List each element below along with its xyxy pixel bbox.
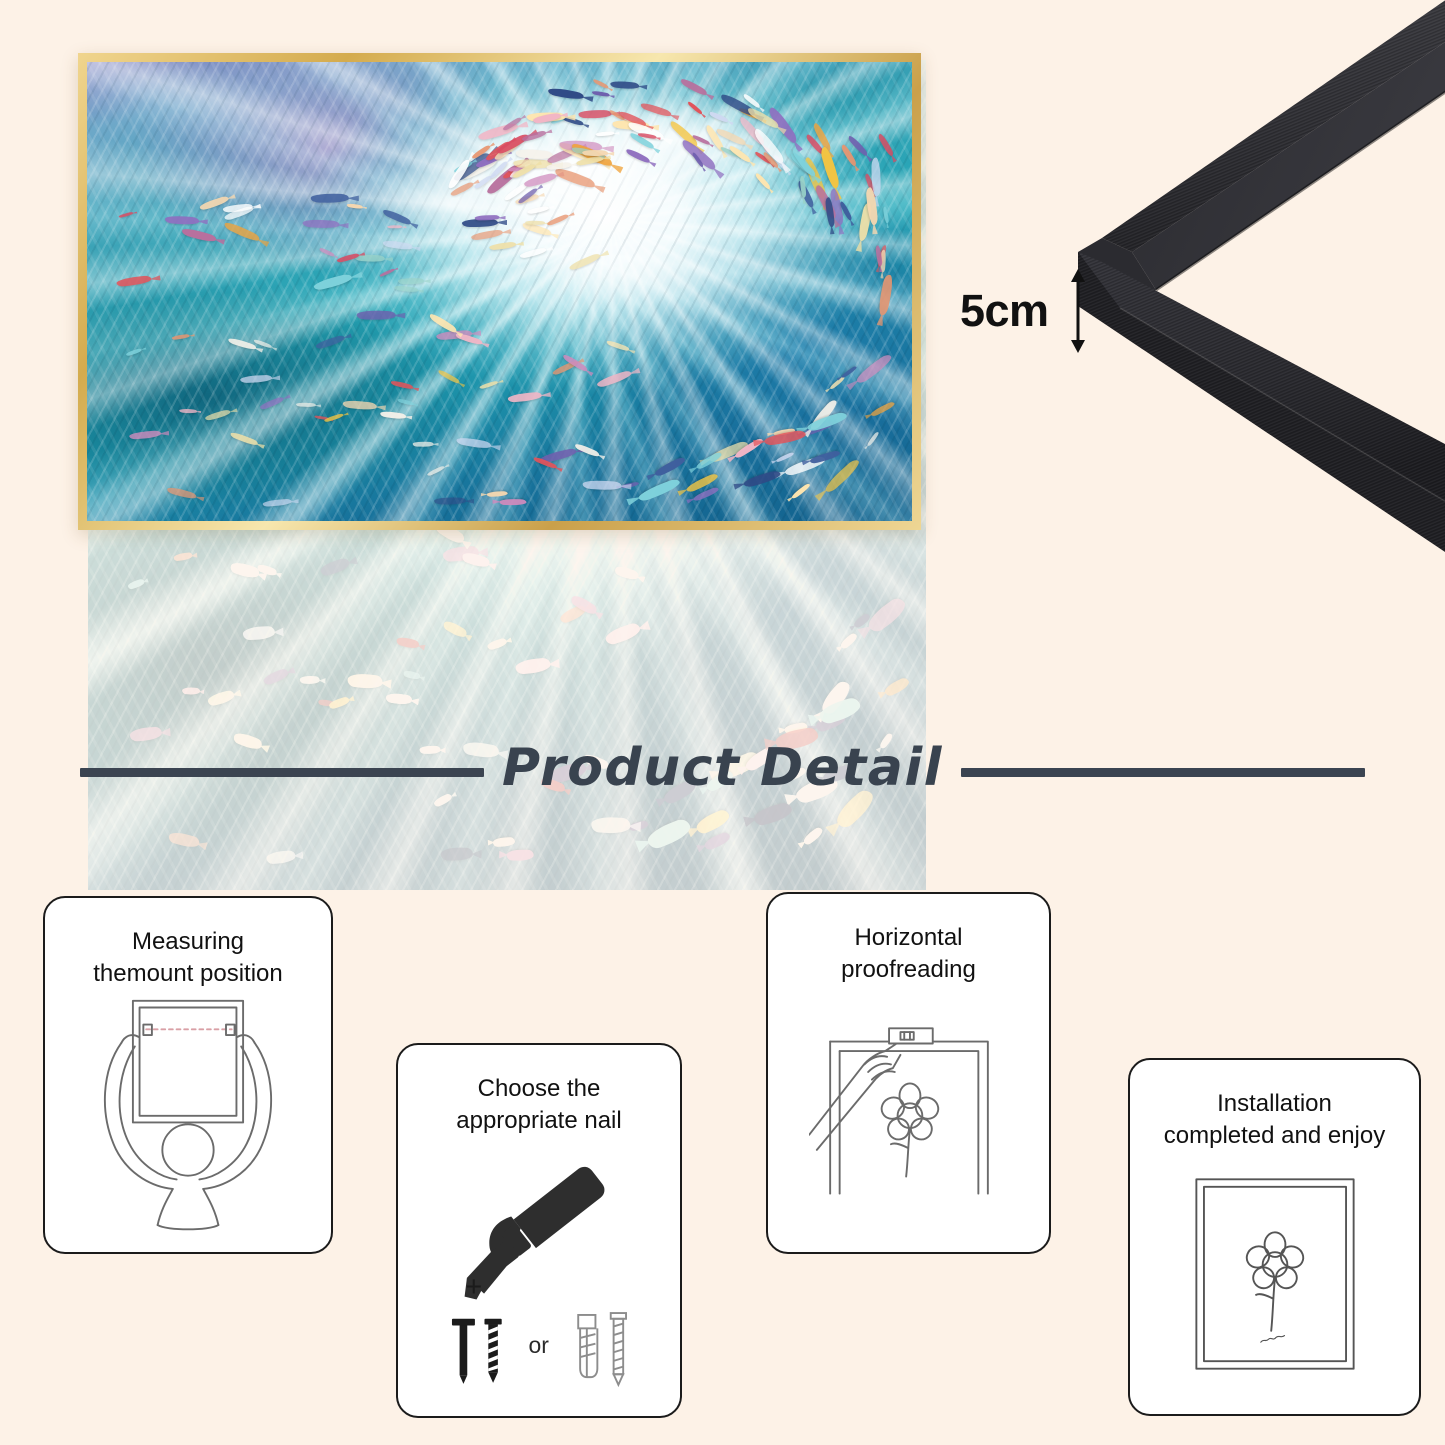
instruction-card-choose-nail: Choose the appropriate nail + bbox=[396, 1043, 682, 1418]
painting-canvas bbox=[87, 62, 912, 521]
hand-with-spirit-level-icon bbox=[809, 1015, 1009, 1205]
instruction-card-installation-complete: Installation completed and enjoy bbox=[1128, 1058, 1421, 1416]
divider-rule-right bbox=[961, 768, 1365, 777]
artwork-canvas bbox=[87, 62, 912, 521]
hammer-and-nails-icon: + or bbox=[429, 1150, 649, 1390]
dimension-callout: 5cm bbox=[960, 268, 1089, 354]
card-title: Installation completed and enjoy bbox=[1164, 1088, 1385, 1151]
gold-frame bbox=[78, 53, 921, 530]
framed-painting bbox=[78, 53, 921, 530]
instruction-card-measuring: Measuring themount position bbox=[43, 896, 333, 1254]
divider-rule-left bbox=[80, 768, 484, 777]
card-title: Choose the appropriate nail bbox=[456, 1073, 621, 1136]
person-holding-frame-icon bbox=[93, 993, 283, 1231]
hung-framed-picture-icon bbox=[1185, 1168, 1365, 1380]
dimension-label: 5cm bbox=[960, 285, 1049, 337]
card-title: Measuring themount position bbox=[93, 926, 282, 989]
card-illustration bbox=[59, 989, 317, 1234]
instruction-card-horizontal-proofreading: Horizontal proofreading bbox=[766, 892, 1051, 1254]
page-title: Product Detail bbox=[484, 738, 961, 798]
double-arrow-vertical-icon bbox=[1067, 268, 1089, 354]
card-illustration bbox=[1144, 1151, 1405, 1396]
fish-layer bbox=[87, 62, 912, 521]
black-wood-frame-corner bbox=[1060, 0, 1445, 570]
svg-text:+: + bbox=[465, 1271, 482, 1303]
product-detail-divider: Product Detail bbox=[0, 742, 1445, 802]
or-label: or bbox=[528, 1332, 549, 1358]
card-illustration: + or bbox=[412, 1142, 666, 1398]
card-title: Horizontal proofreading bbox=[841, 922, 976, 985]
card-illustration bbox=[782, 985, 1035, 1234]
